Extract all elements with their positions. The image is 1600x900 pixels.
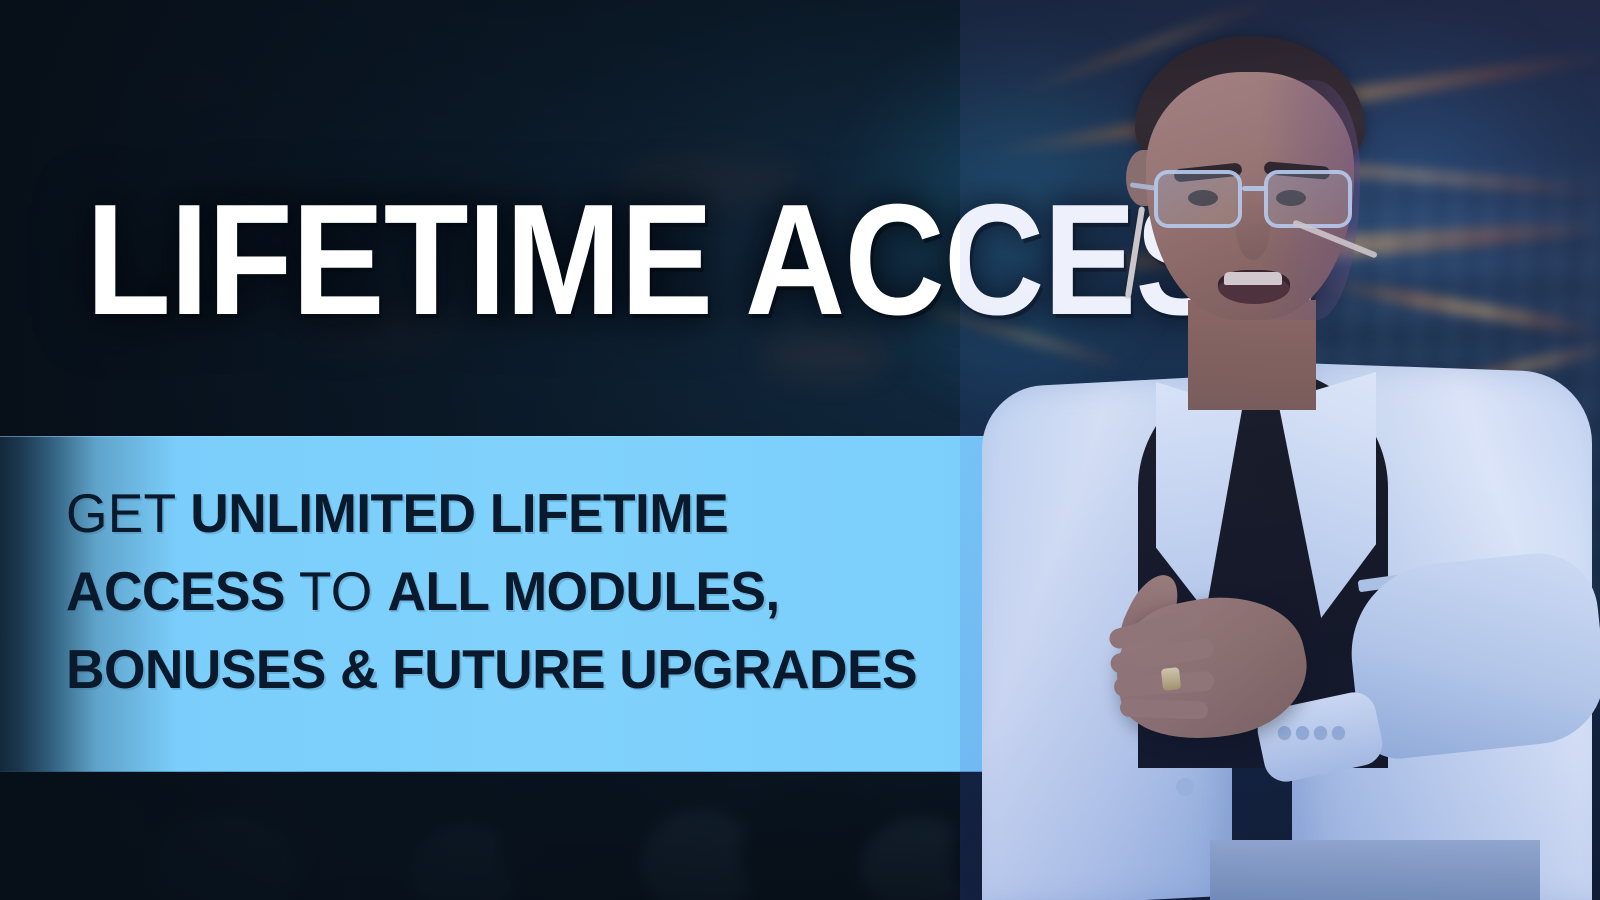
finger-ring [1161,667,1181,691]
subheadline-all-modules: ALL MODULES, [387,560,779,622]
subheadline-bonuses-upgrades: BONUSES & FUTURE UPGRADES [66,638,917,700]
subheadline-line-1: GET UNLIMITED LIFETIME [66,474,968,552]
cuff-button [1296,726,1309,739]
cuff-button [1332,726,1345,739]
finger [1120,698,1209,719]
blazer-button [1176,778,1194,796]
promo-banner: LIFETIME ACCESS GET UNLIMITED LIFETIME A… [0,0,1600,900]
subheadline-to: TO [299,560,373,622]
presenter-photo [960,0,1600,900]
eyeglasses-icon [1152,170,1358,232]
subheadline-line-3: BONUSES & FUTURE UPGRADES [66,630,968,708]
trousers [1210,840,1540,900]
lens-right [1264,170,1352,228]
subheadline-get: GET [66,482,175,544]
cuff-button [1278,726,1291,739]
subheadline-line-2: ACCESS TO ALL MODULES, [66,552,968,630]
cuff-button [1314,726,1327,739]
subheadline-unlimited-lifetime: UNLIMITED LIFETIME [190,482,728,544]
subheadline-access: ACCESS [66,560,285,622]
headset-mic-boom [1125,206,1145,298]
glasses-bridge [1242,186,1266,191]
teeth [1224,272,1282,285]
subheadline-text: GET UNLIMITED LIFETIME ACCESS TO ALL MOD… [66,474,968,708]
lens-left [1154,170,1242,228]
